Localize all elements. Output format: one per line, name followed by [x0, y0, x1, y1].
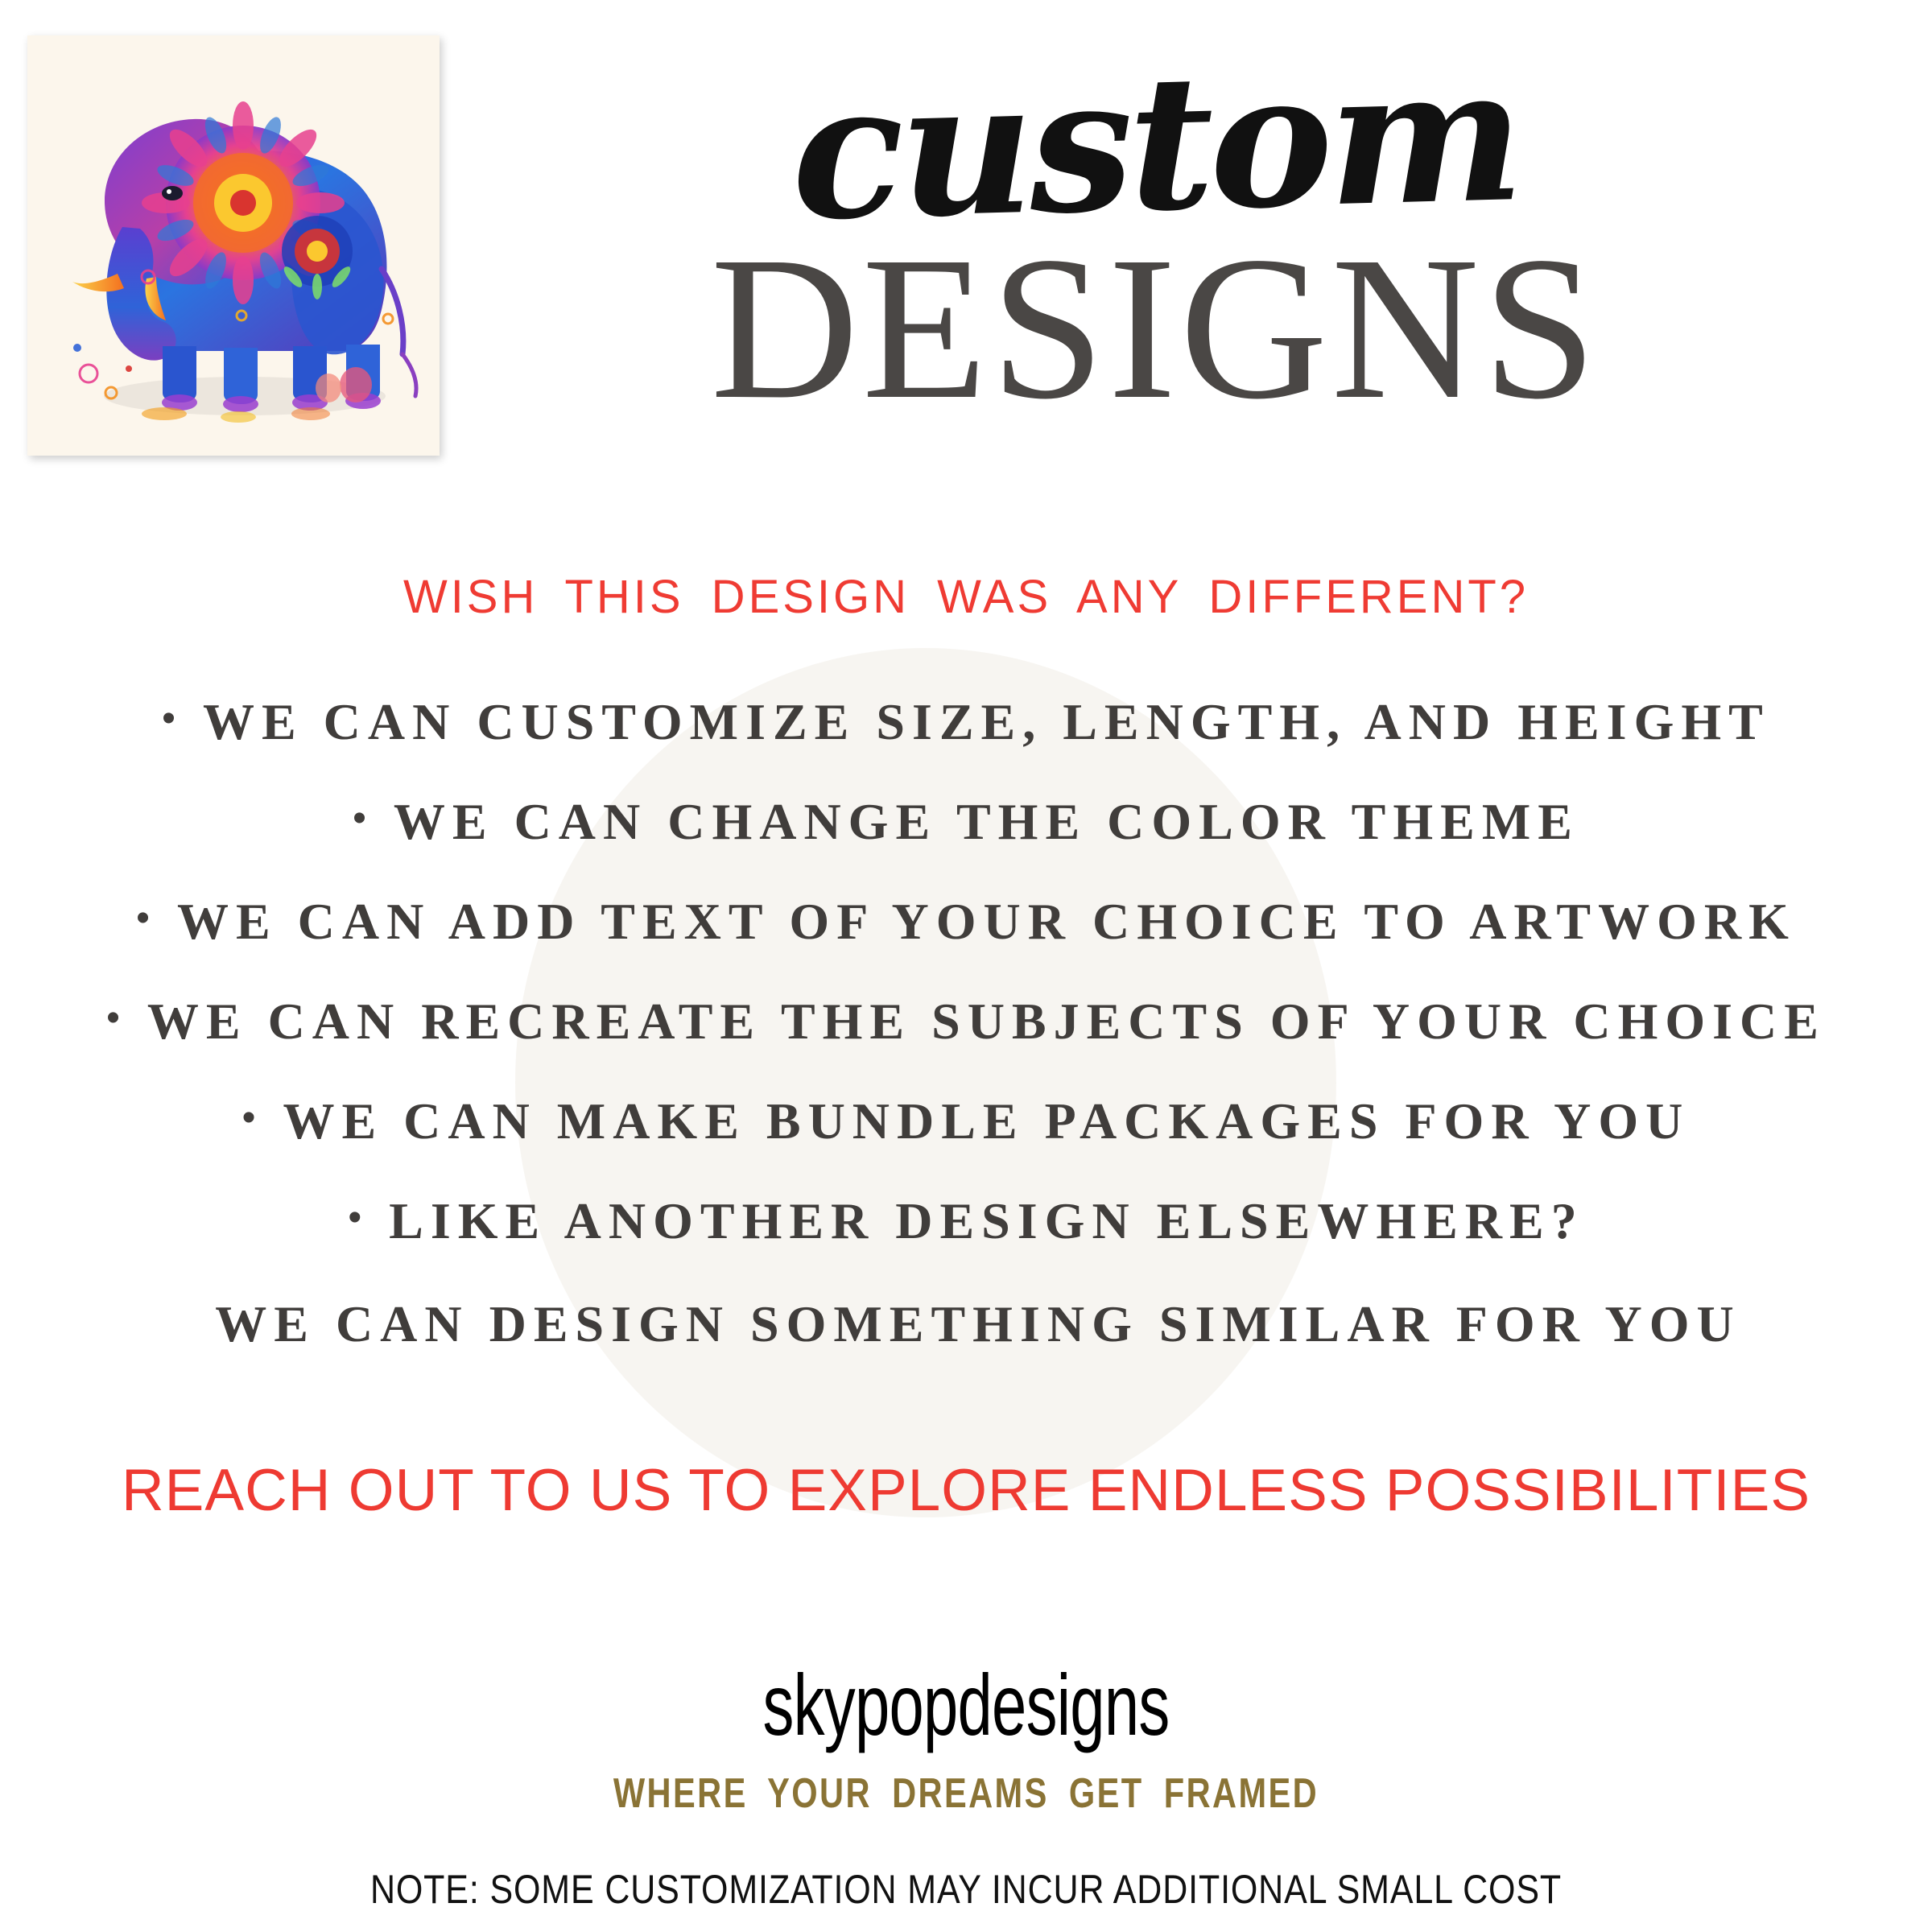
benefits-list: • WE CAN CUSTOMIZE SIZE, LENGTH, AND HEI… [0, 692, 1932, 1291]
elephant-artwork-icon [27, 35, 440, 456]
list-item: • WE CAN MAKE BUNDLE PACKAGES FOR YOU [0, 1092, 1932, 1191]
page-title: DESIGNS [451, 226, 1851, 431]
list-item: • WE CAN ADD TEXT OF YOUR CHOICE TO ARTW… [0, 892, 1932, 992]
brand-tagline: WHERE YOUR DREAMS GET FRAMED [193, 1769, 1739, 1818]
benefit-label: WE CAN RECREATE THE SUBJECTS OF YOUR CHO… [147, 992, 1826, 1051]
benefit-label: WE CAN CHANGE THE COLOR THEME [394, 792, 1579, 852]
bullet-icon: • [242, 1099, 256, 1137]
list-item: • WE CAN RECREATE THE SUBJECTS OF YOUR C… [0, 992, 1932, 1092]
bullet-icon: • [162, 700, 175, 738]
bullet-icon: • [136, 899, 150, 938]
benefit-label: WE CAN CUSTOMIZE SIZE, LENGTH, AND HEIGH… [203, 692, 1770, 752]
list-item: • WE CAN CUSTOMIZE SIZE, LENGTH, AND HEI… [0, 692, 1932, 792]
benefit-label: LIKE ANOTHER DESIGN ELSEWHERE? [389, 1191, 1584, 1251]
footer-note: NOTE: SOME CUSTOMIZATION MAY INCUR ADDIT… [135, 1866, 1797, 1913]
benefit-label: WE CAN MAKE BUNDLE PACKAGES FOR YOU [283, 1092, 1690, 1151]
list-item: • WE CAN CHANGE THE COLOR THEME [0, 792, 1932, 892]
subtitle-question: WISH THIS DESIGN WAS ANY DIFFERENT? [0, 570, 1932, 624]
product-thumbnail-image [27, 35, 440, 456]
bullet-icon: • [348, 1199, 361, 1237]
list-item: • LIKE ANOTHER DESIGN ELSEWHERE? [0, 1191, 1932, 1291]
benefit-continuation-label: WE CAN DESIGN SOMETHING SIMILAR FOR YOU [0, 1294, 1932, 1354]
headline-script-word: custom [448, 38, 1853, 250]
headline-block: custom DESIGNS [451, 56, 1851, 431]
bullet-icon: • [106, 999, 120, 1038]
benefit-label: WE CAN ADD TEXT OF YOUR CHOICE TO ARTWOR… [177, 892, 1796, 952]
call-to-action-text: REACH OUT TO US TO EXPLORE ENDLESS POSSI… [0, 1457, 1932, 1524]
brand-name: skypopdesigns [270, 1654, 1662, 1755]
bullet-icon: • [353, 799, 366, 838]
